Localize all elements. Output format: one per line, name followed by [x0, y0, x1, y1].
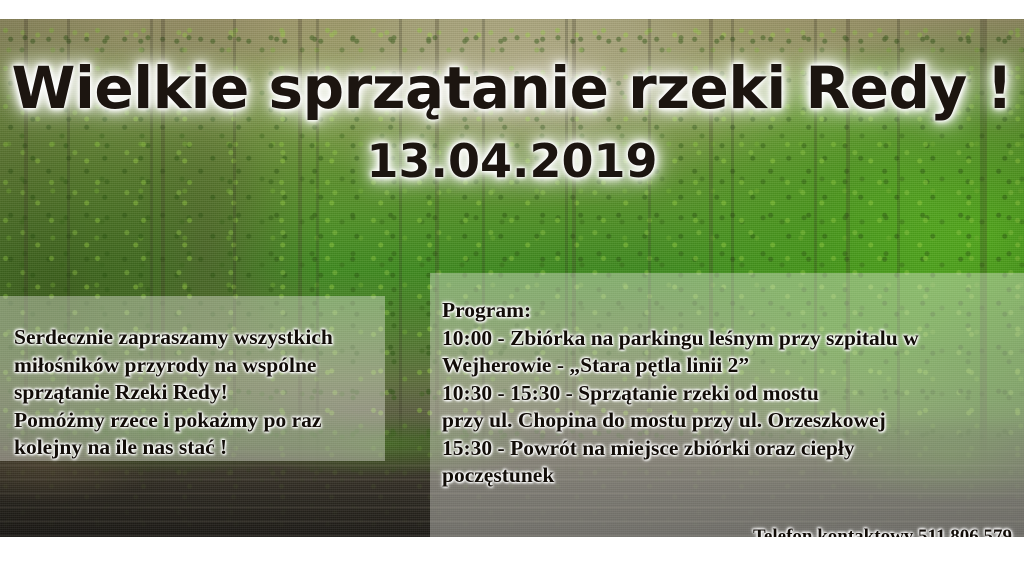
poster-canvas: Wielkie sprzątanie rzeki Redy ! 13.04.20… — [0, 19, 1024, 537]
invitation-line: miłośników przyrody na wspólne — [14, 352, 386, 380]
program-line: Wejherowie - „Stara pętla linii 2” — [442, 352, 1020, 380]
invitation-line: Serdecznie zapraszamy wszystkich — [14, 324, 386, 352]
invitation-line: sprzątanie Rzeki Redy! — [14, 379, 386, 407]
invitation-line: Pomóżmy rzece i pokażmy po raz — [14, 407, 386, 435]
invitation-line: kolejny na ile nas stać ! — [14, 434, 386, 462]
program-line: przy ul. Chopina do mostu przy ul. Orzes… — [442, 407, 1020, 435]
program-heading: Program: — [442, 297, 1020, 325]
poster-title: Wielkie sprzątanie rzeki Redy ! — [0, 59, 1024, 117]
headline-block: Wielkie sprzątanie rzeki Redy ! 13.04.20… — [0, 19, 1024, 184]
program-line: 15:30 - Powrót na miejsce zbiórki oraz c… — [442, 435, 1020, 463]
program-line: 10:30 - 15:30 - Sprzątanie rzeki od most… — [442, 380, 1020, 408]
poster-date: 13.04.2019 — [0, 138, 1024, 184]
program-line: poczęstunek — [442, 462, 1020, 490]
invitation-text: Serdecznie zapraszamy wszystkich miłośni… — [14, 324, 386, 462]
program-text: Program: 10:00 - Zbiórka na parkingu leś… — [442, 297, 1020, 490]
program-line: 10:00 - Zbiórka na parkingu leśnym przy … — [442, 325, 1020, 353]
contact-phone: Telefon kontaktowy 511 806 579 — [430, 525, 1012, 537]
